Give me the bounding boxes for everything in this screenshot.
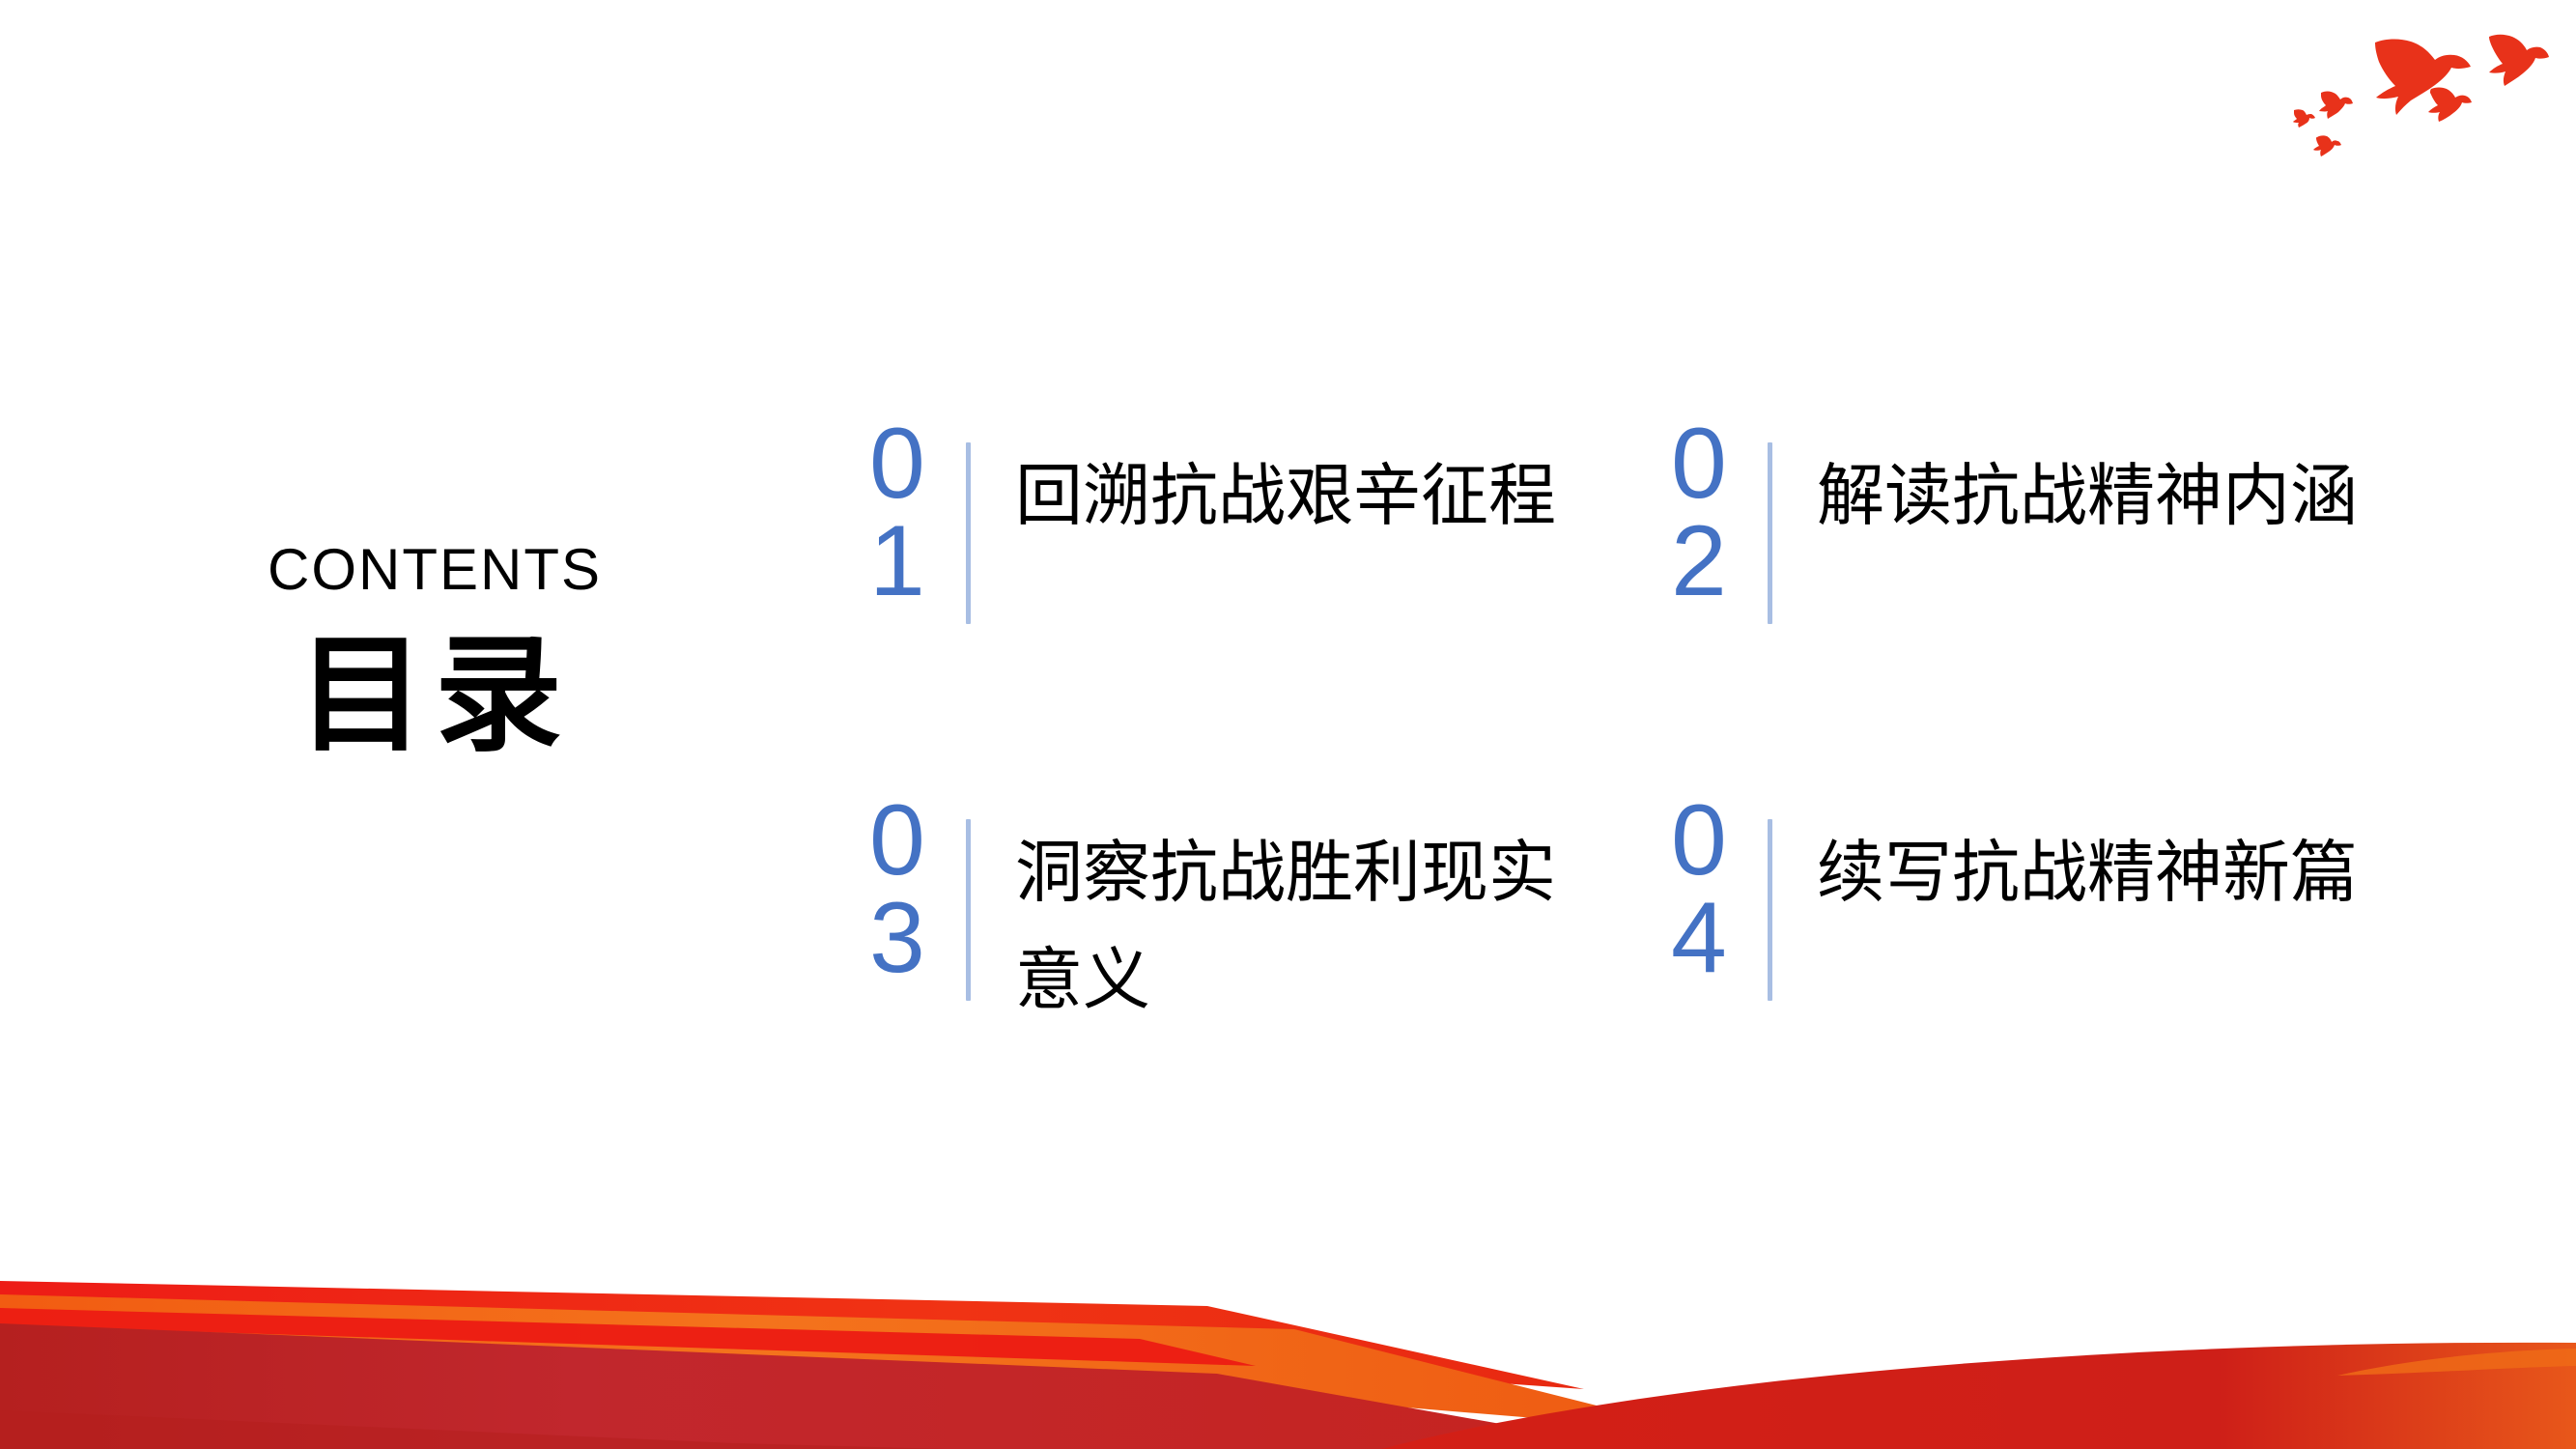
agenda-item-label-01: 回溯抗战艰辛征程 [1015,442,1556,550]
agenda-item-04[interactable]: 0 4 续写抗战精神新篇 [1671,792,2473,1169]
agenda-number-digit-2: 2 [1671,513,1768,611]
agenda-divider-rule [1768,819,1772,1001]
agenda-number-digit-1: 0 [869,792,966,890]
agenda-item-number-04: 0 4 [1671,792,1768,987]
agenda-item-label-04: 续写抗战精神新篇 [1817,819,2358,926]
contents-title-cn: 目录 [145,626,724,766]
agenda-divider-rule [966,442,971,624]
agenda-number-digit-1: 0 [869,415,966,513]
agenda-item-03[interactable]: 0 3 洞察抗战胜利现实意义 [869,792,1671,1169]
agenda-number-digit-2: 3 [869,890,966,987]
agenda-items-grid: 0 1 回溯抗战艰辛征程 0 2 解读抗战精神内涵 0 3 洞察抗战胜利现实意义 [869,415,2473,1169]
contents-title-block: CONTENTS 目录 [145,541,724,766]
contents-slide: CONTENTS 目录 0 1 回溯抗战艰辛征程 0 2 解读抗战精神内涵 0 … [0,0,2576,1449]
agenda-item-number-02: 0 2 [1671,415,1768,611]
agenda-item-02[interactable]: 0 2 解读抗战精神内涵 [1671,415,2473,792]
agenda-number-digit-2: 1 [869,513,966,611]
agenda-item-number-03: 0 3 [869,792,966,987]
agenda-number-digit-1: 0 [1671,415,1768,513]
agenda-number-digit-1: 0 [1671,792,1768,890]
agenda-item-number-01: 0 1 [869,415,966,611]
agenda-divider-rule [1768,442,1772,624]
agenda-item-01[interactable]: 0 1 回溯抗战艰辛征程 [869,415,1671,792]
agenda-number-digit-2: 4 [1671,890,1768,987]
contents-title-en: CONTENTS [145,541,724,599]
agenda-divider-rule [966,819,971,1001]
bird-flock-icon [2282,10,2562,174]
red-ribbon-wave [0,1265,2576,1449]
agenda-item-label-02: 解读抗战精神内涵 [1817,442,2358,550]
agenda-item-label-03: 洞察抗战胜利现实意义 [1015,819,1556,1033]
